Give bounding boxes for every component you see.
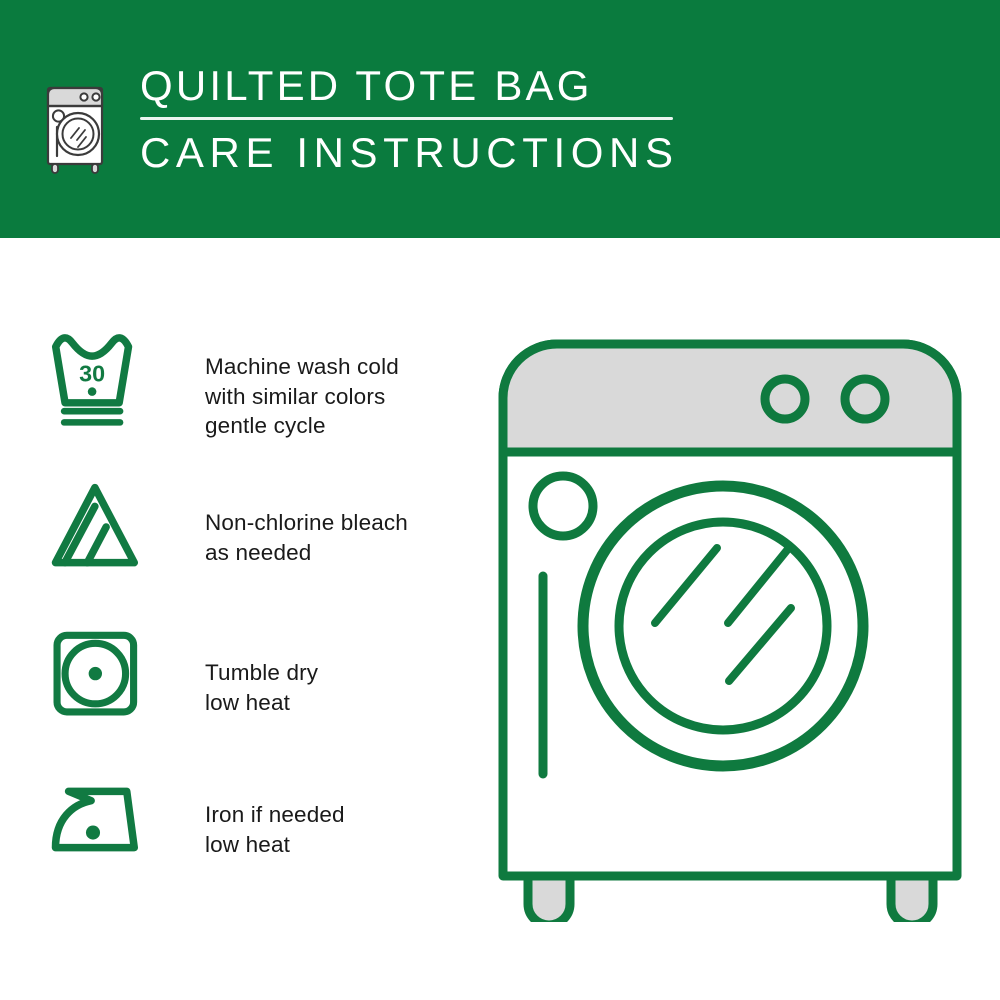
list-item-label: Iron if needed low heat	[205, 780, 345, 859]
iron-low-heat-symbol	[48, 780, 160, 857]
page-title: QUILTED TOTE BAG	[140, 62, 679, 110]
list-item-label: Machine wash cold with similar colors ge…	[205, 330, 399, 441]
door-inner-ring	[619, 522, 827, 730]
title-divider	[140, 117, 673, 120]
tumble-dry-low-heat-symbol	[48, 630, 160, 719]
list-item: Iron if needed low heat	[48, 780, 488, 930]
non-chlorine-bleach-symbol	[48, 480, 160, 574]
list-item: 30 Machine wash cold with similar colors…	[48, 330, 488, 480]
list-item-label: Non-chlorine bleach as needed	[205, 480, 408, 567]
wash-temperature-label: 30	[79, 360, 105, 386]
list-item: Tumble dry low heat	[48, 630, 488, 780]
header-banner: QUILTED TOTE BAG CARE INSTRUCTIONS	[0, 0, 1000, 238]
page-subtitle: CARE INSTRUCTIONS	[140, 129, 679, 177]
list-item: Non-chlorine bleach as needed	[48, 480, 488, 630]
knob-left	[765, 379, 805, 419]
care-instruction-list: 30 Machine wash cold with similar colors…	[48, 330, 488, 930]
leg-left	[528, 876, 570, 922]
header-content: QUILTED TOTE BAG CARE INSTRUCTIONS	[40, 62, 679, 177]
leg-right	[891, 876, 933, 922]
knob-right	[845, 379, 885, 419]
front-load-washing-machine-illustration	[495, 336, 965, 922]
machine-wash-30-gentle-symbol: 30	[48, 330, 160, 428]
washing-machine-icon	[40, 64, 112, 176]
detergent-dispenser	[533, 476, 593, 536]
list-item-label: Tumble dry low heat	[205, 630, 318, 717]
header-title-group: QUILTED TOTE BAG CARE INSTRUCTIONS	[140, 62, 679, 177]
